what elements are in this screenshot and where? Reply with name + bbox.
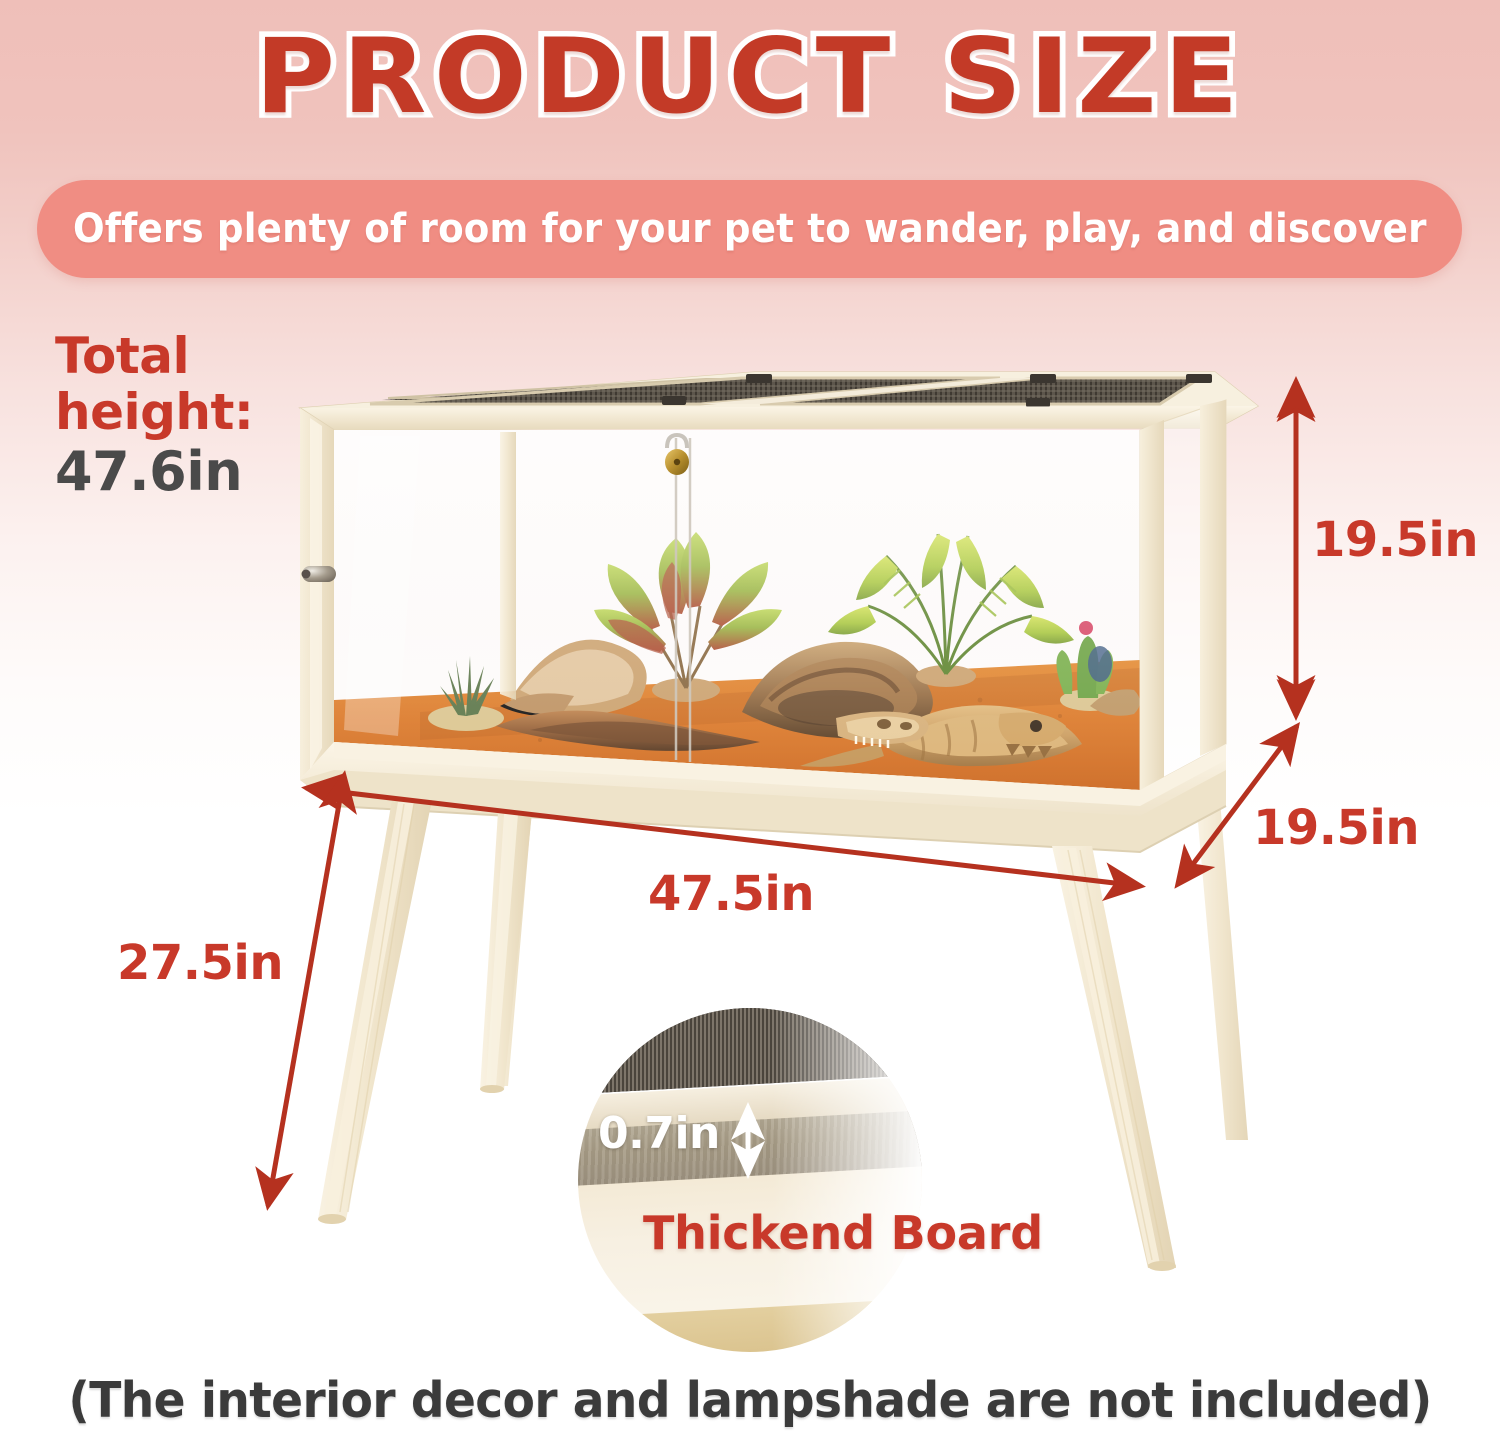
detail-caption: Thickend Board — [643, 1206, 1043, 1260]
infographic-canvas: PRODUCT SIZE Offers plenty of room for y… — [0, 0, 1500, 1456]
detail-thickness-label: 0.7in — [598, 1108, 720, 1159]
disclaimer-text: (The interior decor and lampshade are no… — [30, 1372, 1470, 1429]
